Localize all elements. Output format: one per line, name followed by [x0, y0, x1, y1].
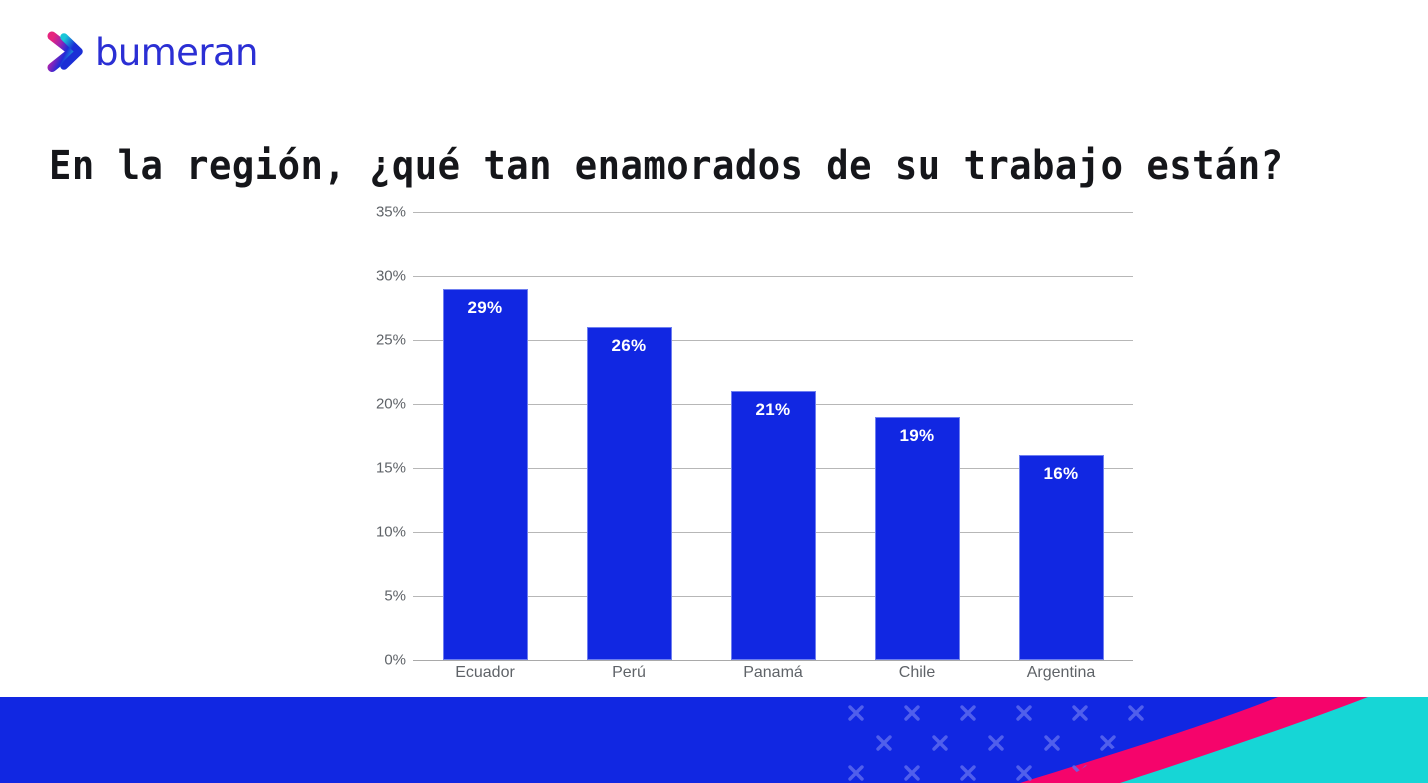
y-tick-label: 25%	[376, 332, 406, 349]
brand-logo[interactable]: bumeran	[46, 31, 258, 73]
bar-group: 19%	[845, 212, 989, 660]
y-tick-label: 10%	[376, 524, 406, 541]
bar-group: 21%	[701, 212, 845, 660]
x-tick-label-chile: Chile	[845, 664, 989, 682]
bar-argentina[interactable]: 16%	[1019, 455, 1104, 660]
y-tick-label: 5%	[384, 588, 406, 605]
y-tick-label: 20%	[376, 396, 406, 413]
y-tick-label: 35%	[376, 204, 406, 221]
x-tick-label-panama: Panamá	[701, 664, 845, 682]
y-tick-label: 15%	[376, 460, 406, 477]
y-axis-labels: 35% 30% 25% 20% 15% 10% 5% 0%	[358, 212, 406, 660]
brand-wordmark: bumeran	[95, 34, 258, 71]
y-tick-label: 30%	[376, 268, 406, 285]
page-title: En la región, ¿qué tan enamorados de su …	[49, 140, 1258, 192]
bar-group: 26%	[557, 212, 701, 660]
bar-chart: 35% 30% 25% 20% 15% 10% 5% 0% 29% 26%	[358, 212, 1133, 690]
bar-ecuador[interactable]: 29%	[443, 289, 528, 660]
bar-series: 29% 26% 21% 19% 16%	[413, 212, 1133, 660]
bar-value-label: 19%	[900, 426, 935, 446]
x-axis-labels: Ecuador Perú Panamá Chile Argentina	[413, 664, 1133, 682]
y-tick-label: 0%	[384, 652, 406, 669]
bar-group: 16%	[989, 212, 1133, 660]
x-tick-label-peru: Perú	[557, 664, 701, 682]
footer-decoration-band	[0, 697, 1428, 783]
x-tick-label-argentina: Argentina	[989, 664, 1133, 682]
bar-panama[interactable]: 21%	[731, 391, 816, 660]
bumeran-chevron-icon	[46, 31, 86, 73]
plot-area: 29% 26% 21% 19% 16%	[413, 212, 1133, 660]
bar-group: 29%	[413, 212, 557, 660]
axis-baseline	[413, 660, 1133, 661]
bar-value-label: 29%	[468, 298, 503, 318]
bar-peru[interactable]: 26%	[587, 327, 672, 660]
x-tick-label-ecuador: Ecuador	[413, 664, 557, 682]
bar-value-label: 21%	[756, 400, 791, 420]
bar-value-label: 26%	[612, 336, 647, 356]
bar-value-label: 16%	[1044, 464, 1079, 484]
bar-chile[interactable]: 19%	[875, 417, 960, 660]
